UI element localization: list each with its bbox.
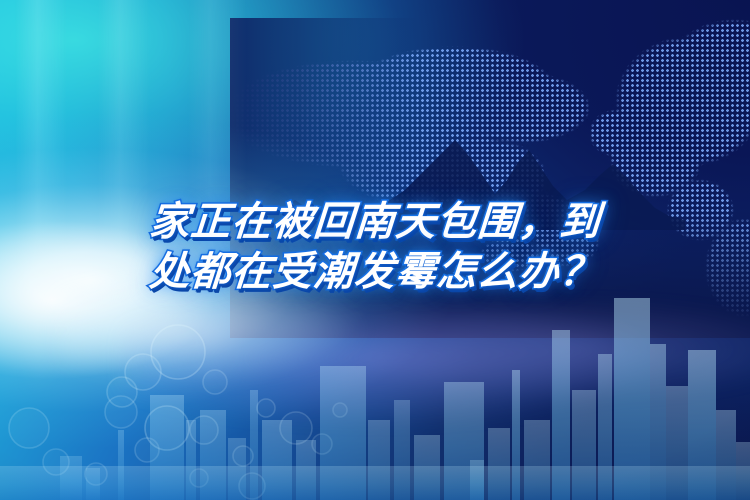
vignette-overlay [0, 0, 750, 500]
banner-image: 家正在被回南天包围，到 处都在受潮发霉怎么办？ [0, 0, 750, 500]
